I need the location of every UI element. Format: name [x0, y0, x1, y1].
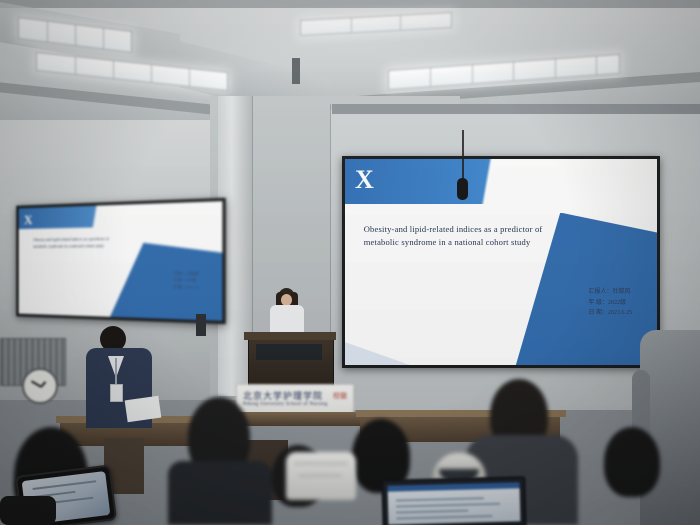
white-bag: [286, 452, 356, 500]
side-slide-title: Obesity-and lipid-related indices as a p…: [33, 235, 173, 250]
hanging-microphone-cable: [462, 130, 464, 182]
main-slide-meta: 汇报人：杜晓风 年 级：2022级 日 期：2023.6.25: [589, 287, 633, 319]
ceiling-pipe: [292, 58, 300, 84]
hanging-microphone: [457, 178, 468, 200]
university-logo-glyph: X: [355, 165, 374, 195]
university-logo-glyph: X: [24, 214, 33, 229]
wall-trim: [332, 104, 700, 114]
side-slide-meta: 汇报人：杜晓风 年 级：2022级 日 期：2023.6.25: [174, 270, 200, 291]
laptop-screen: [388, 482, 521, 524]
main-slide-title: Obesity-and lipid-related indices as a p…: [364, 223, 601, 249]
audience-head: [604, 427, 660, 497]
photo-scene: X Obesity-and lipid-related indices as a…: [0, 0, 700, 525]
slide-top-band: [345, 159, 657, 204]
side-slide: X Obesity-and lipid-related indices as a…: [19, 201, 223, 321]
open-laptop[interactable]: [381, 476, 526, 525]
audience-body: [168, 461, 272, 525]
side-display-mount: [196, 314, 206, 336]
ceiling-beam: [0, 0, 700, 8]
side-display[interactable]: X Obesity-and lipid-related indices as a…: [16, 198, 226, 324]
hand-holding-phone: [0, 496, 56, 525]
